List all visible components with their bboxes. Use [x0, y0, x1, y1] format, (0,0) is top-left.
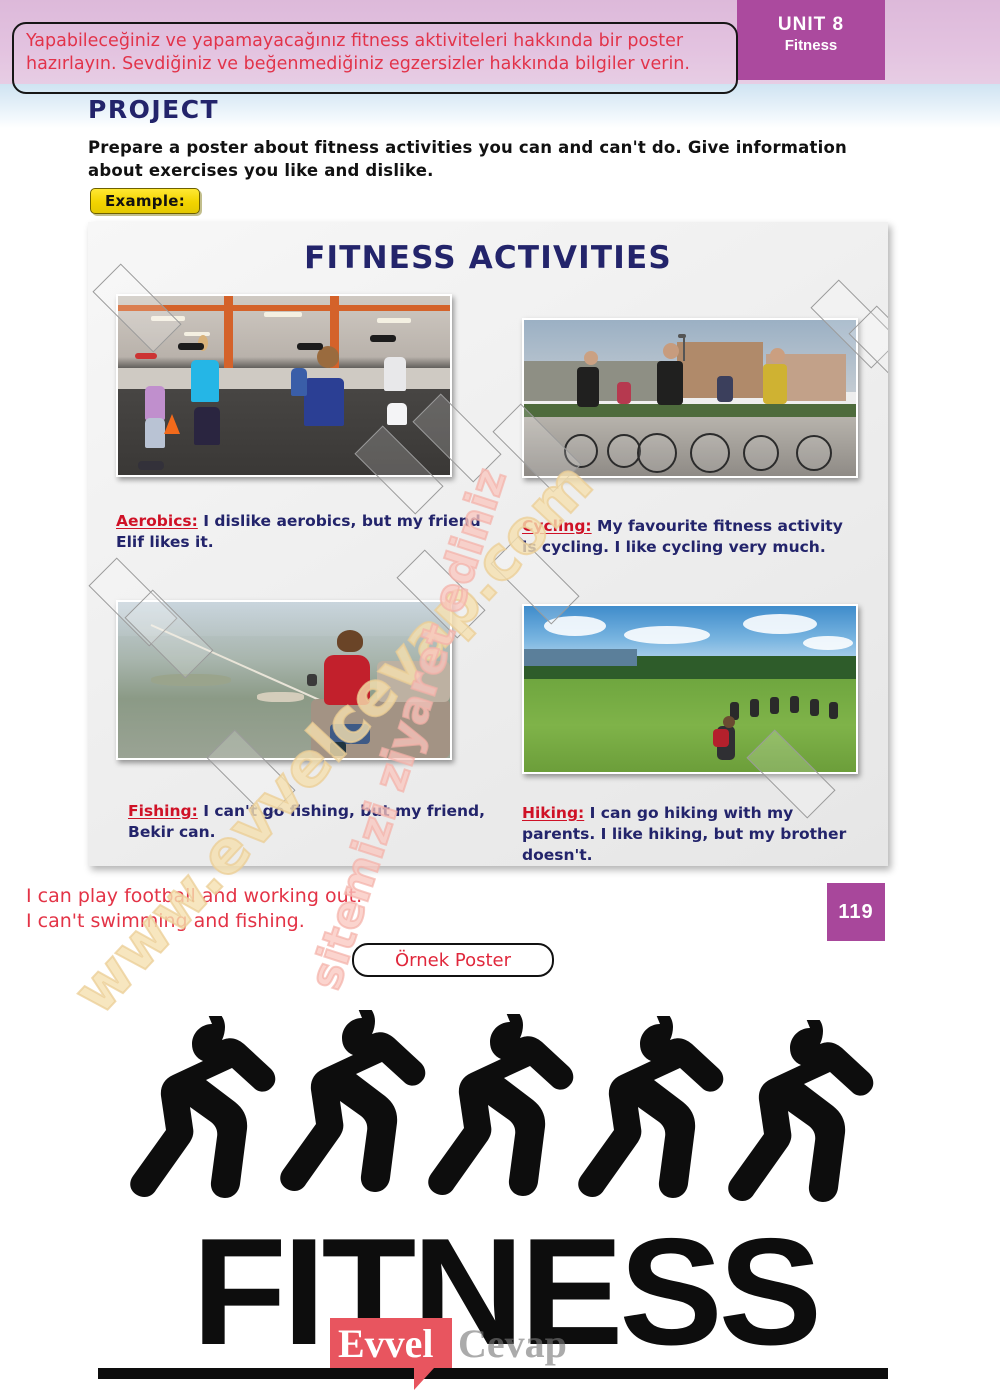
caption-lead-cycling: Cycling: [522, 517, 592, 535]
photo-cycling [522, 318, 858, 478]
turkish-instruction-text: Yapabileceğiniz ve yapamayacağınız fitne… [26, 30, 726, 75]
runner-silhouette-icon [120, 1016, 290, 1236]
unit-badge: UNIT 8 Fitness [737, 0, 885, 80]
caption-lead-fishing: Fishing: [128, 802, 198, 820]
runner-silhouette-icon [418, 1014, 588, 1234]
caption-lead-hiking: Hiking: [522, 804, 584, 822]
caption-fishing: Fishing: I can't go fishing, but my frie… [128, 780, 508, 843]
brand-name-evvel: Evvel [338, 1320, 434, 1367]
page-number-badge: 119 [827, 883, 885, 941]
caption-lead-aerobics: Aerobics: [116, 512, 198, 530]
unit-label: UNIT 8 [737, 14, 885, 36]
page-title: PROJECT [88, 95, 219, 124]
task-instruction: Prepare a poster about fitness activitie… [88, 136, 878, 182]
student-answer-text: I can play football and working out. I c… [26, 884, 362, 934]
poster-title: FITNESS ACTIVITIES [88, 240, 888, 276]
turkish-instruction-callout: Yapabileceğiniz ve yapamayacağınız fitne… [12, 22, 738, 94]
photo-hiking [522, 604, 858, 774]
evvelcevap-brand-badge: Evvel Cevap [330, 1318, 660, 1382]
sample-poster-panel: FITNESS ACTIVITIES [88, 222, 888, 866]
caption-hiking: Hiking: I can go hiking with my parents.… [522, 782, 862, 866]
unit-subject: Fitness [737, 36, 885, 56]
brand-speech-tail [414, 1368, 434, 1390]
caption-aerobics: Aerobics: I dislike aerobics, but my fri… [116, 490, 496, 553]
example-button[interactable]: Example: [90, 188, 200, 214]
ornek-poster-button[interactable]: Örnek Poster [352, 943, 554, 977]
runner-silhouette-icon [270, 1010, 440, 1230]
runner-silhouette-icon [568, 1016, 738, 1236]
caption-cycling: Cycling: My favourite fitness activity i… [522, 495, 862, 558]
brand-name-cevap: Cevap [458, 1320, 567, 1367]
